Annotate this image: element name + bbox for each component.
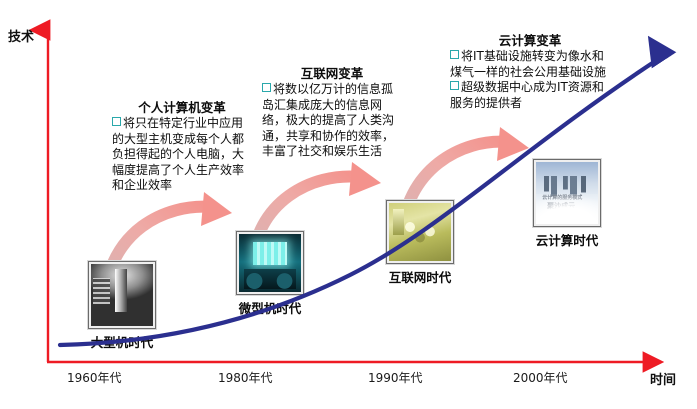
- callout-pc-bullet-1-text: 将只在特定行业中应用的大型主机变成每个人都负担得起的个人电脑，大幅度提高了个人生…: [112, 116, 244, 192]
- x-tick-1990: 1990年代: [368, 369, 423, 386]
- era-internet[interactable]: 互联网时代: [386, 200, 454, 286]
- callout-cloud-bullet-2: 超级数据中心成为IT资源和服务的提供者: [450, 80, 610, 111]
- era-cloud-computing-frame: 云计算的服务模式 聚沙成云: [533, 159, 601, 227]
- internet-network-photo: [389, 203, 451, 261]
- era-microcomputer-frame: [236, 231, 304, 295]
- callout-cloud-bullet-1-text: 将IT基础设施转变为像水和煤气一样的社会公用基础设施: [450, 49, 606, 79]
- cloud-photo-caption-line1: 云计算的服务模式: [542, 195, 582, 202]
- era-mainframe-frame: [88, 261, 156, 329]
- callout-internet-title: 互联网变革: [262, 66, 402, 81]
- callout-internet: 互联网变革 将数以亿万计的信息孤岛汇集成庞大的信息网络，极大的提高了人类沟通，共…: [262, 66, 402, 160]
- era-microcomputer[interactable]: 微型机时代: [236, 231, 304, 317]
- era-microcomputer-label: 微型机时代: [236, 298, 304, 317]
- callout-cloud-computing-title: 云计算变革: [450, 33, 610, 48]
- x-tick-1960: 1960年代: [67, 369, 122, 386]
- callout-pc-bullet-1: 将只在特定行业中应用的大型主机变成每个人都负担得起的个人电脑，大幅度提高了个人生…: [112, 116, 252, 194]
- era-mainframe-label: 大型机时代: [88, 332, 156, 351]
- callout-internet-bullet-1: 将数以亿万计的信息孤岛汇集成庞大的信息网络，极大的提高了人类沟通，共享和协作的效…: [262, 82, 402, 160]
- x-axis-label: 时间: [650, 369, 676, 388]
- era-cloud-computing[interactable]: 云计算的服务模式 聚沙成云 云计算时代: [533, 159, 601, 249]
- mainframe-photo: [91, 264, 153, 326]
- callout-internet-body: 将数以亿万计的信息孤岛汇集成庞大的信息网络，极大的提高了人类沟通，共享和协作的效…: [262, 82, 402, 160]
- callout-cloud-computing: 云计算变革 将IT基础设施转变为像水和煤气一样的社会公用基础设施 超级数据中心成…: [450, 33, 610, 111]
- callout-cloud-bullet-2-text: 超级数据中心成为IT资源和服务的提供者: [450, 80, 604, 110]
- era-internet-label: 互联网时代: [386, 267, 454, 286]
- callout-personal-computer-body: 将只在特定行业中应用的大型主机变成每个人都负担得起的个人电脑，大幅度提高了个人生…: [112, 116, 252, 194]
- era-internet-frame: [386, 200, 454, 264]
- callout-cloud-bullet-1: 将IT基础设施转变为像水和煤气一样的社会公用基础设施: [450, 49, 610, 80]
- bullet-square-icon: [262, 83, 271, 92]
- x-tick-1980: 1980年代: [218, 369, 273, 386]
- cloud-photo-caption-line2: 聚沙成云: [547, 203, 575, 210]
- x-tick-2000: 2000年代: [513, 369, 568, 386]
- bullet-square-icon: [112, 117, 121, 126]
- microcomputer-office-photo: [239, 234, 301, 292]
- y-axis-label: 技术: [8, 26, 34, 45]
- bullet-square-icon: [450, 50, 459, 59]
- era-cloud-computing-label: 云计算时代: [533, 230, 601, 249]
- callout-internet-bullet-1-text: 将数以亿万计的信息孤岛汇集成庞大的信息网络，极大的提高了人类沟通，共享和协作的效…: [262, 82, 394, 158]
- callout-personal-computer-title: 个人计算机变革: [112, 100, 252, 115]
- bullet-square-icon: [450, 81, 459, 90]
- slide-canvas: 技术 时间 1960年代 1980年代 1990年代 2000年代: [0, 0, 697, 409]
- callout-cloud-computing-body: 将IT基础设施转变为像水和煤气一样的社会公用基础设施 超级数据中心成为IT资源和…: [450, 49, 610, 111]
- callout-personal-computer: 个人计算机变革 将只在特定行业中应用的大型主机变成每个人都负担得起的个人电脑，大…: [112, 100, 252, 194]
- cloud-datacenter-photo: 云计算的服务模式 聚沙成云: [536, 162, 598, 224]
- era-mainframe[interactable]: 大型机时代: [88, 261, 156, 351]
